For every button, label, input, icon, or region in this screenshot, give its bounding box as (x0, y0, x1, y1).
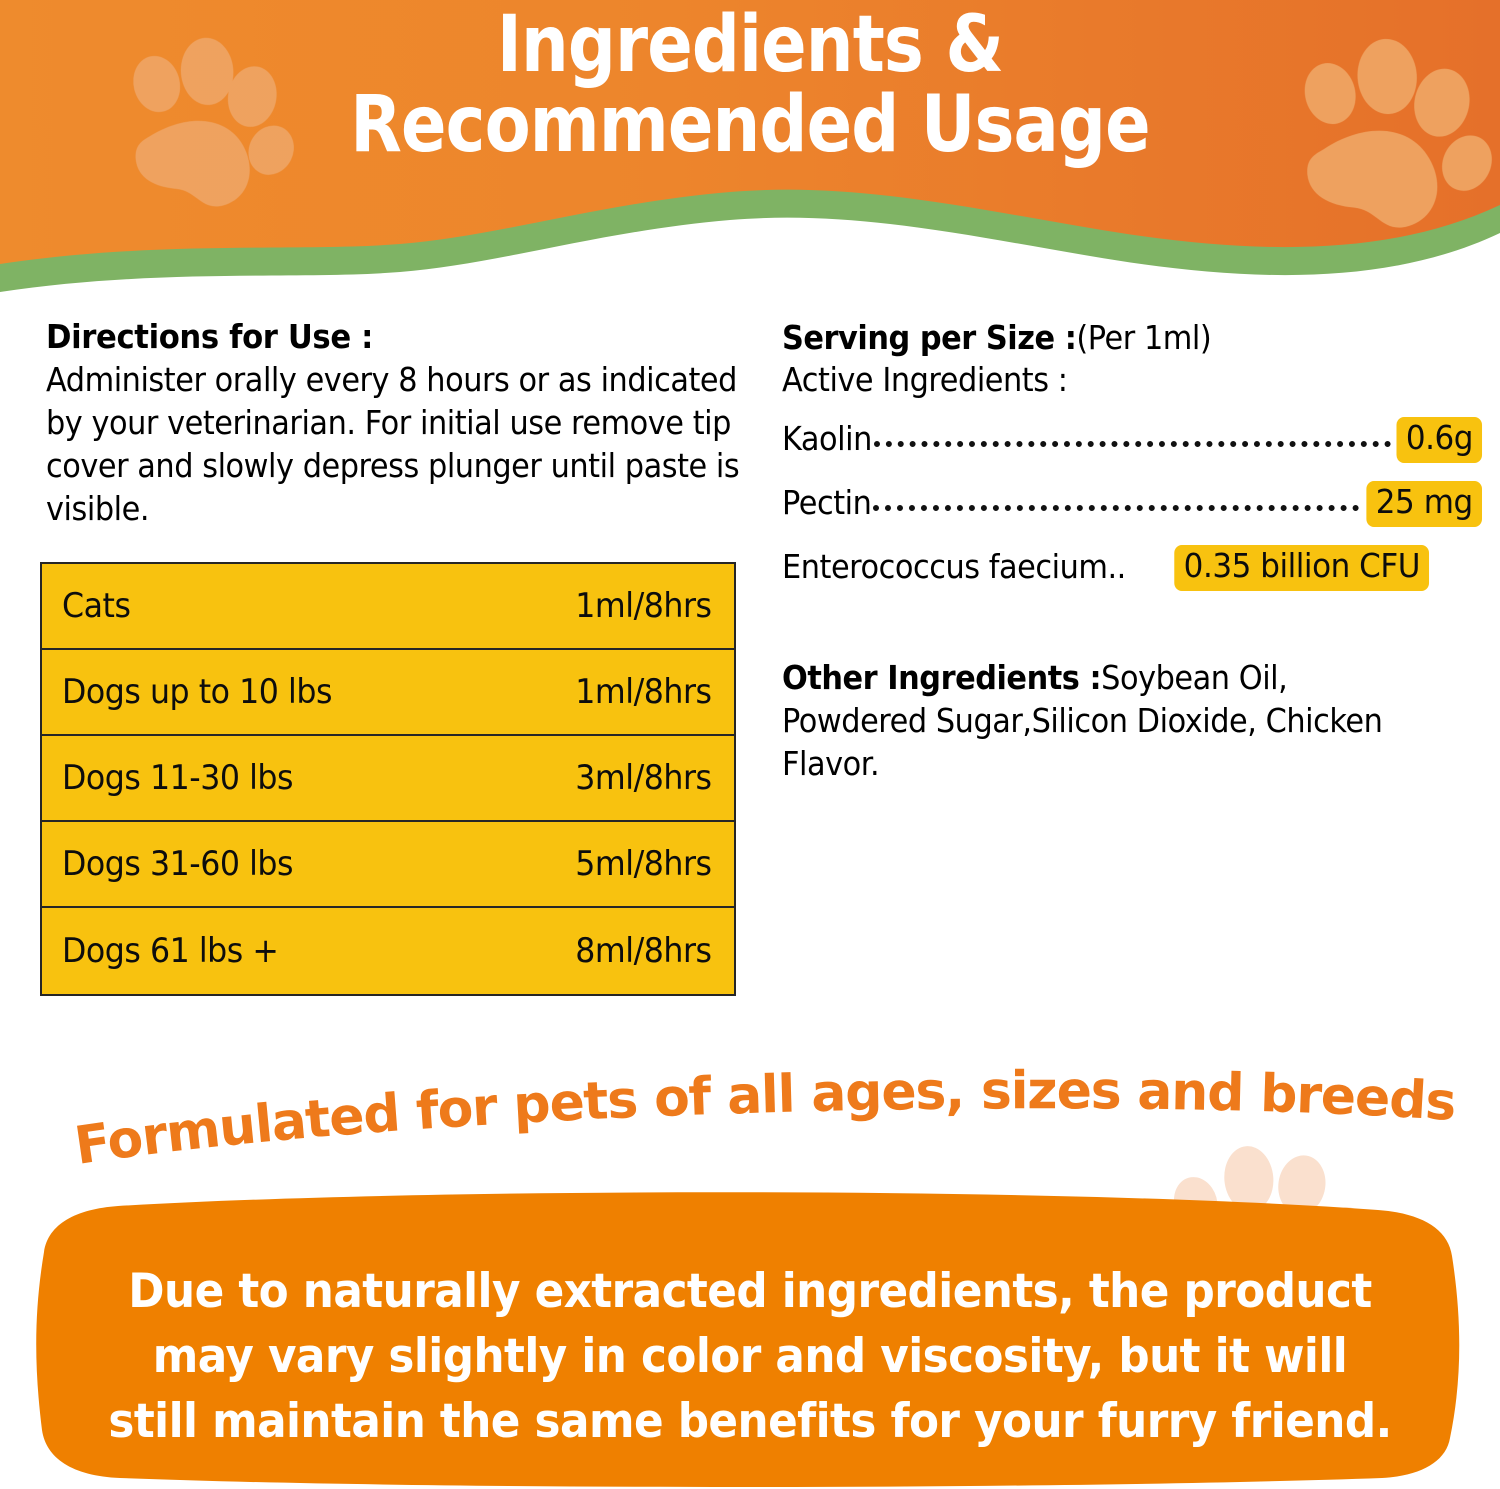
serving-size-label: Serving per Size : (782, 318, 1076, 357)
dosage-amount: 3ml/8hrs (576, 758, 712, 798)
disclaimer-banner: Due to naturally extracted ingredients, … (0, 1190, 1500, 1489)
directions-body: Administer orally every 8 hours or as in… (46, 359, 754, 531)
dosage-amount: 8ml/8hrs (576, 931, 712, 971)
other-ingredients-block: Other Ingredients :Soybean Oil, Powdered… (782, 657, 1442, 786)
dot-leader (873, 505, 1359, 511)
table-row: Dogs 31-60 lbs 5ml/8hrs (42, 822, 734, 908)
ingredient-name: Enterococcus faecium.. (782, 550, 1126, 591)
ingredient-name: Pectin (782, 486, 871, 527)
dosage-animal: Dogs 61 lbs + (62, 931, 278, 971)
ingredients-column: Serving per Size :(Per 1ml) Active Ingre… (782, 318, 1482, 786)
ingredient-amount: 25 mg (1366, 481, 1482, 527)
dosage-table: Cats 1ml/8hrs Dogs up to 10 lbs 1ml/8hrs… (40, 562, 736, 996)
serving-size-value: (Per 1ml) (1076, 318, 1211, 357)
table-row: Cats 1ml/8hrs (42, 564, 734, 650)
main-content: Directions for Use : Administer orally e… (0, 300, 1500, 1080)
ingredient-row: Enterococcus faecium.. 0.35 billion CFU (782, 533, 1482, 591)
dosage-animal: Dogs 11-30 lbs (62, 758, 293, 798)
page-title: Ingredients & Recommended Usage (105, 6, 1395, 165)
tagline-curved-text: Formulated for pets of all ages, sizes a… (0, 1068, 1500, 1188)
ingredient-amount: 0.35 billion CFU (1174, 545, 1429, 591)
other-ingredients-text: Other Ingredients :Soybean Oil, Powdered… (782, 657, 1389, 786)
ingredient-name: Kaolin (782, 422, 872, 463)
tagline-textpath: Formulated for pets of all ages, sizes a… (0, 1068, 1457, 1177)
table-row: Dogs 11-30 lbs 3ml/8hrs (42, 736, 734, 822)
dosage-animal: Dogs up to 10 lbs (62, 672, 332, 712)
dosage-amount: 5ml/8hrs (576, 844, 712, 884)
tagline-section: Formulated for pets of all ages, sizes a… (0, 1068, 1500, 1188)
dosage-amount: 1ml/8hrs (576, 672, 712, 712)
tagline-label: Formulated for pets of all ages, sizes a… (0, 1068, 1457, 1177)
directions-title: Directions for Use : (46, 318, 697, 357)
dosage-animal: Dogs 31-60 lbs (62, 844, 293, 884)
ingredient-amount: 0.6g (1396, 417, 1482, 463)
serving-size-line: Serving per Size :(Per 1ml) (782, 318, 1426, 358)
dosage-amount: 1ml/8hrs (576, 586, 712, 626)
dosage-animal: Cats (62, 586, 130, 626)
directions-column: Directions for Use : Administer orally e… (46, 318, 746, 531)
active-ingredients-label: Active Ingredients : (782, 360, 1426, 400)
header-banner: Ingredients & Recommended Usage (0, 0, 1500, 300)
ingredient-row: Pectin 25 mg (782, 469, 1482, 527)
disclaimer-text: Due to naturally extracted ingredients, … (108, 1260, 1391, 1455)
table-row: Dogs 61 lbs + 8ml/8hrs (42, 908, 734, 994)
ingredient-row: Kaolin 0.6g (782, 405, 1482, 463)
dot-leader (874, 441, 1391, 447)
table-row: Dogs up to 10 lbs 1ml/8hrs (42, 650, 734, 736)
other-ingredients-label: Other Ingredients : (782, 658, 1101, 697)
